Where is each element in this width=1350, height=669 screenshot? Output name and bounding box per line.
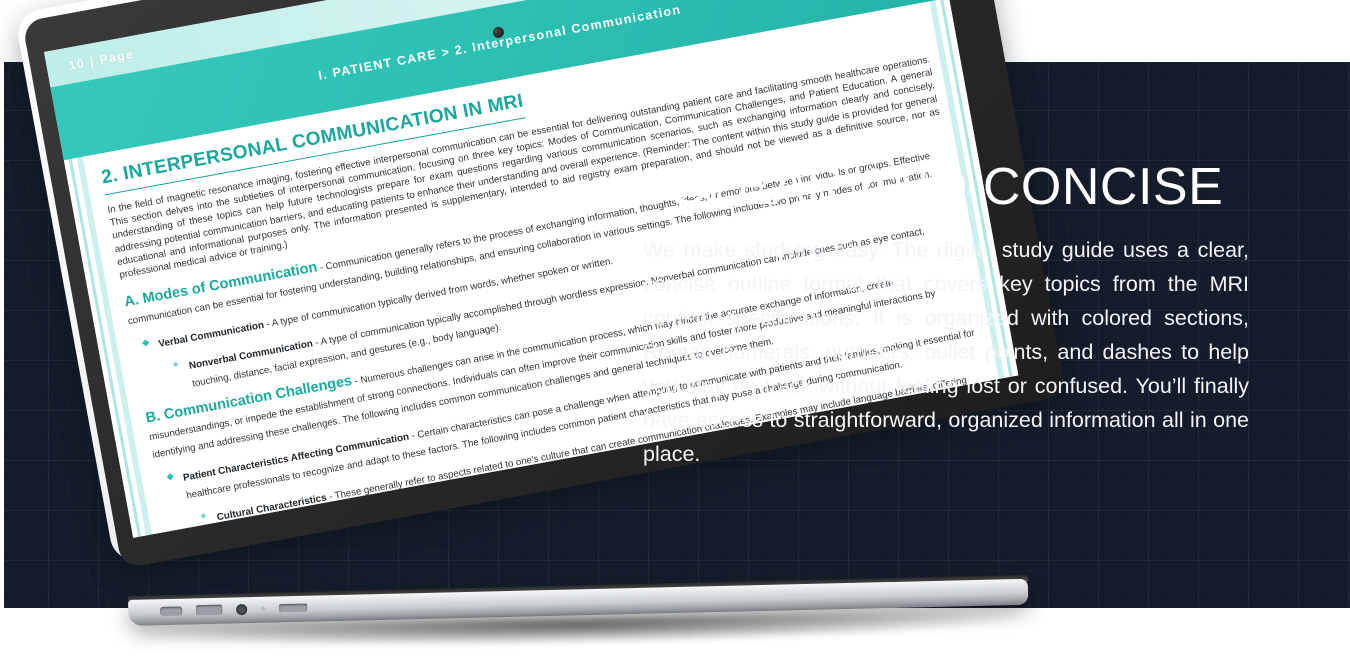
hdmi-port-icon [160,606,182,616]
copy-block: CLEAR AND CONCISE We make studying easy.… [643,160,1249,471]
status-led-icon [261,607,265,611]
page-paragraph: We make studying easy. The digital study… [643,233,1249,471]
diamond-bullet-icon [142,340,149,347]
diamond-bullet-icon [167,473,174,480]
diamond-bullet-icon [201,513,207,519]
diamond-bullet-icon [173,362,179,368]
headphone-jack-icon [236,603,247,614]
page-number-label: 10 | Page [46,47,136,77]
page-headline: CLEAR AND CONCISE [643,160,1249,215]
usb-port-icon [196,605,222,616]
sd-card-slot-icon [279,604,307,613]
